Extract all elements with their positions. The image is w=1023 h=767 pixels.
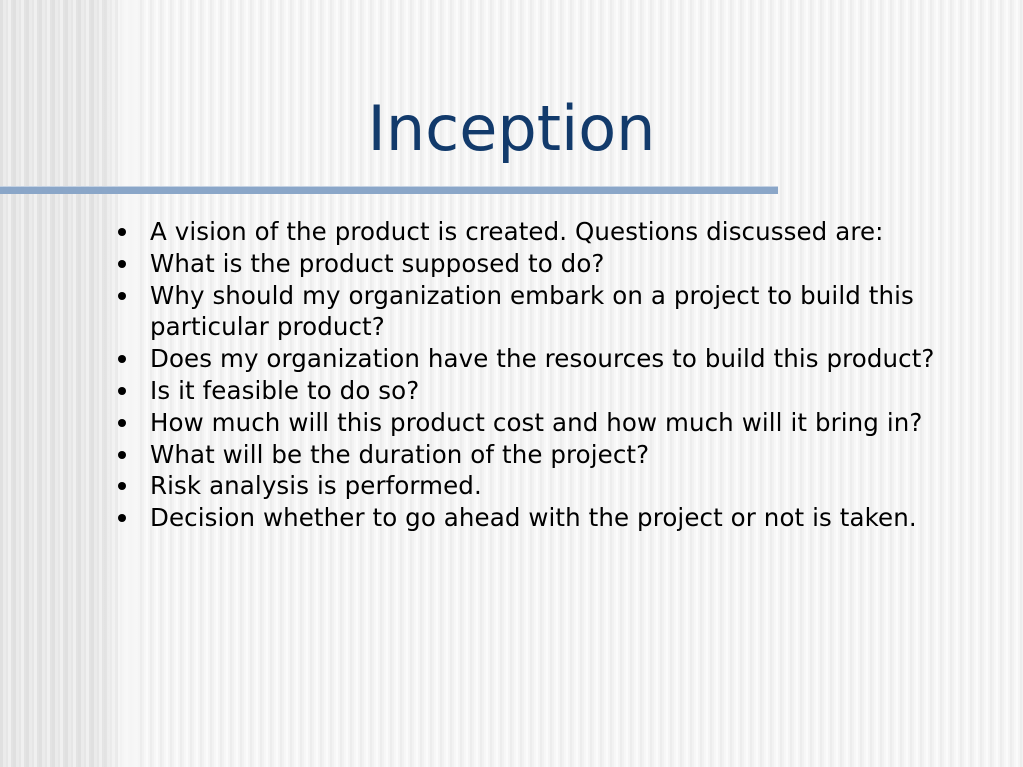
list-item-text: Decision whether to go ahead with the pr… <box>150 503 917 532</box>
title-divider-rule <box>0 186 778 194</box>
list-item-text: What will be the duration of the project… <box>150 440 649 469</box>
list-item-text: Does my organization have the resources … <box>150 344 935 373</box>
bullet-list: A vision of the product is created. Ques… <box>112 216 1012 534</box>
presentation-slide: Inception A vision of the product is cre… <box>0 0 1023 767</box>
bullet-point-icon <box>118 228 126 236</box>
list-item: How much will this product cost and how … <box>112 407 1012 439</box>
list-item-text: How much will this product cost and how … <box>150 408 922 437</box>
list-item-text: A vision of the product is created. Ques… <box>150 217 883 246</box>
list-item-text: Risk analysis is performed. <box>150 471 482 500</box>
list-item: A vision of the product is created. Ques… <box>112 216 1012 248</box>
bullet-point-icon <box>118 355 126 363</box>
list-item: Does my organization have the resources … <box>112 343 1012 375</box>
bullet-point-icon <box>118 482 126 490</box>
bullet-point-icon <box>118 451 126 459</box>
list-item: Why should my organization embark on a p… <box>112 280 1012 344</box>
list-item: Decision whether to go ahead with the pr… <box>112 502 1012 534</box>
bullet-point-icon <box>118 260 126 268</box>
slide-body: A vision of the product is created. Ques… <box>112 216 1012 534</box>
slide-title: Inception <box>0 98 1023 160</box>
list-item: What is the product supposed to do? <box>112 248 1012 280</box>
bullet-point-icon <box>118 514 126 522</box>
list-item-text: Why should my organization embark on a p… <box>150 281 914 342</box>
list-item-text: What is the product supposed to do? <box>150 249 605 278</box>
list-item: Risk analysis is performed. <box>112 470 1012 502</box>
bullet-point-icon <box>118 292 126 300</box>
bullet-point-icon <box>118 387 126 395</box>
list-item: What will be the duration of the project… <box>112 439 1012 471</box>
list-item-text: Is it feasible to do so? <box>150 376 419 405</box>
list-item: Is it feasible to do so? <box>112 375 1012 407</box>
bullet-point-icon <box>118 419 126 427</box>
